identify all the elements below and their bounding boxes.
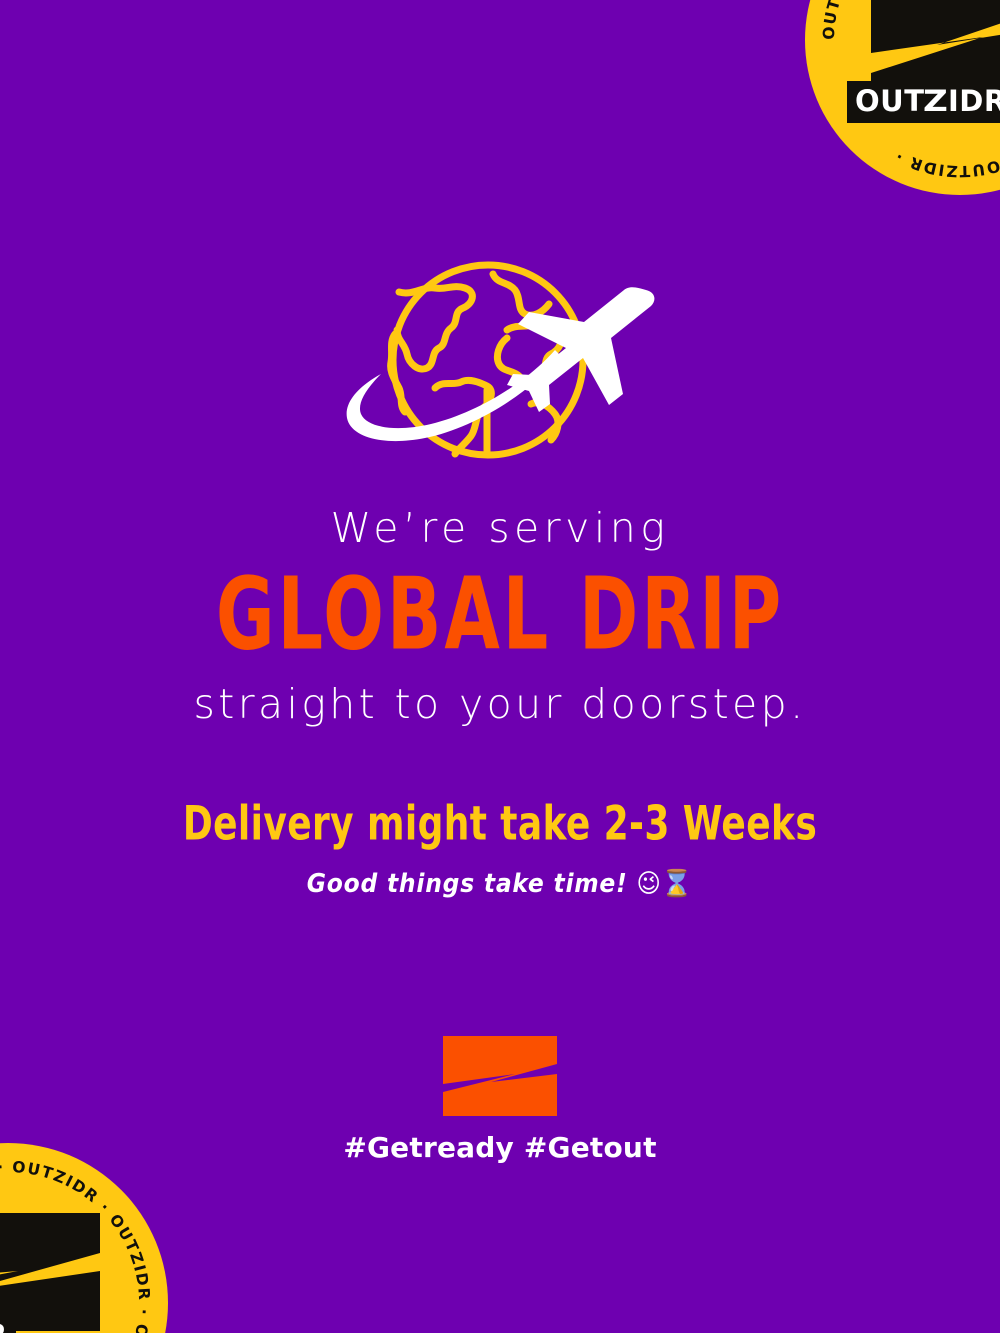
delivery-subnote-text: Good things take time!	[307, 869, 628, 899]
footer-tagline: #Getready #Getout	[0, 1131, 1000, 1164]
z-logo-icon	[443, 1036, 557, 1116]
tagline-suffix: straight to your doorstep.	[0, 681, 1000, 728]
outzidr-stamp-bottom-left: OUTZIDR · OUTZIDR · OUTZIDR · OUTZIDR · …	[0, 1143, 168, 1333]
stamp-wordmark-top-right: OUTZIDR	[847, 81, 1000, 123]
orbit-swoosh-icon	[347, 350, 561, 441]
wink-hourglass-emoji: 😉⌛	[637, 869, 694, 899]
delivery-note: Delivery might take 2-3 Weeks	[0, 798, 1000, 850]
airplane-icon	[507, 287, 654, 412]
headline: GLOBAL DRIP	[15, 562, 985, 670]
globe-with-airplane-illustration	[0, 252, 1000, 472]
stamp-wordmark-after: IDR	[0, 1318, 8, 1333]
globe-airplane-icon	[335, 252, 665, 472]
stamp-wordmark-before: OUT	[855, 84, 924, 118]
poster-footer: #Getready #Getout	[0, 1036, 1000, 1164]
promo-poster: OUTZIDR · OUTZIDR · OUTZIDR · OUTZIDR · …	[0, 0, 1000, 1333]
stamp-wordmark-z: Z	[924, 87, 949, 116]
outzidr-stamp-top-right: OUTZIDR · OUTZIDR · OUTZIDR · OUTZIDR · …	[805, 0, 1000, 195]
delivery-subnote: Good things take time! 😉⌛	[0, 869, 1000, 900]
tagline-prefix: We’re serving	[0, 505, 1000, 552]
stamp-wordmark-after: IDR	[948, 84, 1000, 118]
stamp-wordmark-bottom-left: OUTZIDR	[0, 1315, 16, 1333]
poster-copy-block: We’re serving GLOBAL DRIP straight to yo…	[0, 505, 1000, 900]
outzidr-z-logo	[443, 1036, 557, 1116]
